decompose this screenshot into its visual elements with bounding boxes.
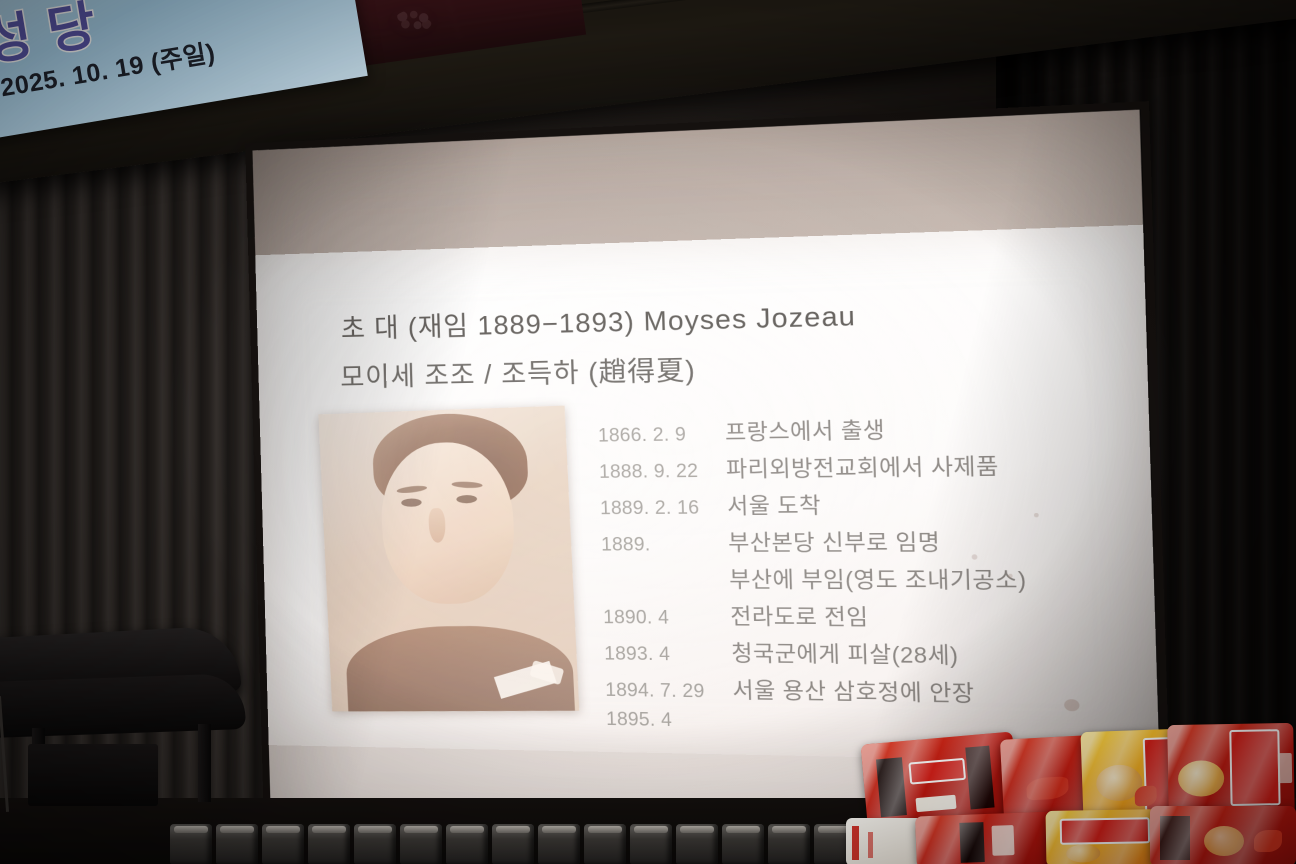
slide-title-line-2: 모이세 조조 / 조득하 (趙得夏) (340, 349, 697, 394)
stage-can (262, 824, 304, 864)
slide-title-line-1: 초 대 (재임 1889−1893) Moyses Jozeau (340, 294, 856, 346)
timeline-row: 1889. 부산본당 신부로 임명 (601, 525, 1118, 563)
stage-can (400, 824, 442, 864)
timeline-description: 부산본당 신부로 임명 (728, 525, 941, 557)
portrait-sepia-tone (318, 406, 579, 712)
timeline-date: 1888. 9. 22 (599, 460, 727, 483)
timeline-description: 서울 용산 삼호정에 안장 (732, 673, 975, 708)
stage-can (630, 824, 672, 864)
stage-can (446, 824, 488, 864)
timeline-description: 청국군에게 피살(28세) (731, 637, 959, 671)
piano-leg (198, 724, 211, 802)
slide-speck (1008, 574, 1013, 578)
stage-can (354, 824, 396, 864)
slide-timeline-list: 1866. 2. 9 프랑스에서 출생 1888. 9. 22 파리외방전교회에… (598, 410, 1124, 755)
stage-can (538, 824, 580, 864)
stage-can (768, 824, 810, 864)
timeline-row: 1888. 9. 22 파리외방전교회에서 사제품 (599, 448, 1116, 490)
slide-speck (1034, 513, 1039, 517)
stage-can (722, 824, 764, 864)
timeline-description: 파리외방전교회에서 사제품 (726, 449, 1000, 484)
timeline-date: 1893. 4 (604, 643, 732, 666)
slide-speck (972, 554, 978, 559)
slide-smudge-mark (1064, 699, 1080, 711)
stage-can (676, 824, 718, 864)
ramen-pack (1167, 723, 1295, 819)
stage-can (170, 824, 212, 864)
ramen-goods-stack (850, 714, 1296, 864)
timeline-description: 부산에 부임(영도 조내기공소) (729, 563, 1027, 596)
timeline-row: 부산에 부임(영도 조내기공소) (602, 563, 1119, 601)
timeline-description: 서울 도착 (727, 489, 822, 521)
ramen-pack (1046, 809, 1167, 864)
stage-can (492, 824, 534, 864)
ramen-pack (915, 812, 1057, 864)
piano-bench (28, 744, 158, 806)
timeline-row: 1866. 2. 9 프랑스에서 출생 (598, 410, 1115, 454)
stage-can (584, 824, 626, 864)
timeline-date: 1895. 4 (606, 708, 734, 732)
auditorium-photo: l성 당 2025. 10. 19 (주일) 초 대 (재임 1889−1893… (0, 0, 1296, 864)
timeline-row: 1893. 4 청국군에게 피살(28세) (604, 636, 1121, 678)
timeline-date: 1894. 7. 29 (605, 679, 733, 703)
timeline-date: 1890. 4 (603, 607, 731, 630)
stage-can (308, 824, 350, 864)
portrait-photo (318, 406, 579, 712)
timeline-description: 전라도로 전임 (730, 600, 869, 633)
presentation-slide: 초 대 (재임 1889−1893) Moyses Jozeau 모이세 조조 … (255, 225, 1159, 763)
timeline-row: 1889. 2. 16 서울 도착 (600, 486, 1117, 526)
ramen-pack-white (846, 818, 922, 864)
grand-piano (0, 632, 270, 812)
timeline-date: 1889. (601, 534, 729, 556)
timeline-date: 1866. 2. 9 (598, 423, 726, 447)
stage-can (216, 824, 258, 864)
timeline-description: 프랑스에서 출생 (725, 413, 886, 447)
footlight-can-row (170, 824, 930, 864)
ramen-pack (1150, 806, 1296, 864)
timeline-row: 1890. 4 전라도로 전임 (603, 599, 1120, 639)
timeline-date: 1889. 2. 16 (600, 497, 728, 520)
